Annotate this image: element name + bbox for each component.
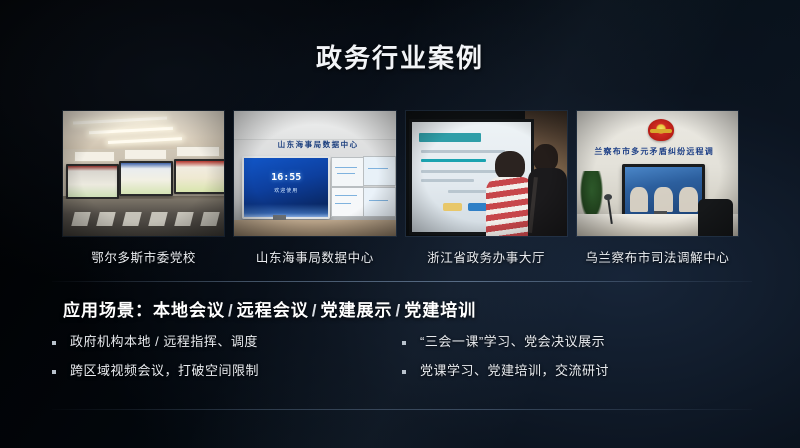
- bullet-columns: 政府机构本地 / 远程指挥、调度 跨区域视频会议，打破空间限制 “三会一课”学习…: [52, 334, 742, 391]
- person-head: [495, 151, 525, 180]
- video-conference-tv: [622, 164, 705, 218]
- kiosk-text-line: [421, 159, 485, 162]
- participant-face: [679, 187, 698, 212]
- scenario-separator: /: [309, 301, 321, 320]
- desk: [234, 220, 395, 236]
- scenario-item-4: 党建培训: [404, 301, 476, 320]
- kiosk-button: [443, 203, 462, 211]
- side-monitor: [331, 187, 364, 217]
- side-monitor: [363, 156, 395, 186]
- display-subtitle: 欢迎使用: [244, 187, 328, 194]
- kiosk-text-line: [421, 179, 473, 182]
- section-divider-bottom: [52, 409, 752, 410]
- bullet-item: 党课学习、党建培训，交流研讨: [402, 363, 742, 379]
- bullet-item: 政府机构本地 / 远程指挥、调度: [52, 334, 392, 350]
- side-monitor: [363, 187, 395, 217]
- scenario-label: 应用场景：: [63, 301, 153, 320]
- info-display: [174, 159, 224, 194]
- display-name-plate: [176, 146, 220, 157]
- floor-tile: [71, 212, 90, 226]
- info-display: [66, 164, 118, 199]
- case-photo-strip: 山东海事局数据中心 16:55 欢迎使用: [63, 111, 738, 236]
- display-name-plate: [124, 149, 166, 160]
- scenario-separator: /: [392, 301, 404, 320]
- case-photo-1[interactable]: [63, 111, 224, 236]
- ceiling: [234, 111, 395, 140]
- case-caption-3: 浙江省政务办事大厅: [406, 247, 567, 273]
- bullet-column-right: “三会一课”学习、党会决议展示 党课学习、党建培训，交流研讨: [392, 334, 742, 391]
- case-photo-3[interactable]: [406, 111, 567, 236]
- kiosk-button: [468, 203, 487, 211]
- case-caption-row: 鄂尔多斯市委党校 山东海事局数据中心 浙江省政务办事大厅 乌兰察布市司法调解中心: [63, 247, 738, 273]
- case-caption-2: 山东海事局数据中心: [234, 247, 395, 273]
- slide-root: 政务行业案例 山东海事局数据中心: [0, 0, 800, 448]
- scenario-item-1: 本地会议: [153, 301, 225, 320]
- participant-face: [654, 187, 673, 212]
- kiosk-header-bar: [419, 133, 481, 143]
- bullet-marker-icon: [52, 341, 56, 345]
- person-background: [528, 144, 567, 237]
- case-photo-2[interactable]: 山东海事局数据中心 16:55 欢迎使用: [234, 111, 395, 236]
- page-title: 政务行业案例: [0, 38, 800, 75]
- bullet-marker-icon: [402, 341, 406, 345]
- case-caption-1: 鄂尔多斯市委党校: [63, 247, 224, 273]
- bullet-text: “三会一课”学习、党会决议展示: [420, 334, 605, 350]
- section-divider-top: [52, 281, 752, 282]
- wall-banner-text: 兰察布市多元矛盾纠纷远程调: [577, 146, 735, 157]
- kiosk-text-line: [448, 190, 491, 193]
- display-clock: 16:55: [244, 172, 328, 183]
- floor-tile: [174, 212, 193, 226]
- scenario-separator: /: [225, 301, 237, 320]
- display-skyline: [244, 204, 328, 217]
- side-monitor: [331, 157, 364, 187]
- bullet-item: “三会一课”学习、党会决议展示: [402, 334, 742, 350]
- bullet-text: 跨区域视频会议，打破空间限制: [70, 363, 259, 379]
- scenario-headline: 应用场景：本地会议/远程会议/党建展示/党建培训: [63, 296, 476, 321]
- participant-face: [630, 187, 649, 212]
- national-emblem: [648, 119, 674, 141]
- bullet-column-left: 政府机构本地 / 远程指挥、调度 跨区域视频会议，打破空间限制: [52, 334, 392, 391]
- bullet-item: 跨区域视频会议，打破空间限制: [52, 363, 392, 379]
- info-display: [119, 161, 173, 196]
- display-name-plate: [74, 151, 115, 162]
- scenario-item-2: 远程会议: [237, 301, 309, 320]
- wall-sign-text: 山东海事局数据中心: [250, 139, 385, 150]
- scenario-item-3: 党建展示: [320, 301, 392, 320]
- bullet-text: 党课学习、党建培训，交流研讨: [420, 363, 609, 379]
- floor-tile: [200, 212, 219, 226]
- main-display: 16:55 欢迎使用: [242, 156, 330, 219]
- office-chair: [698, 199, 733, 237]
- case-photo-4[interactable]: 兰察布市多元矛盾纠纷远程调: [577, 111, 738, 236]
- bullet-text: 政府机构本地 / 远程指挥、调度: [70, 334, 258, 350]
- bullet-marker-icon: [402, 370, 406, 374]
- case-caption-4: 乌兰察布市司法调解中心: [577, 247, 738, 273]
- bullet-marker-icon: [52, 370, 56, 374]
